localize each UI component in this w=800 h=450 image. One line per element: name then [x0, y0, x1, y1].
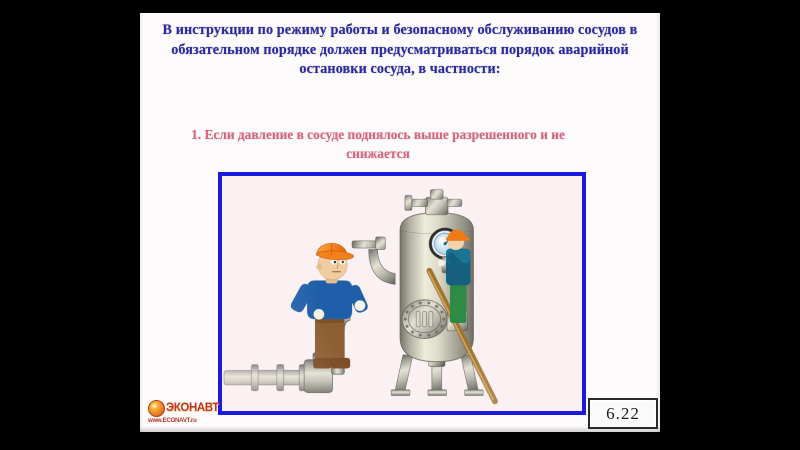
- logo-globe-icon: [148, 400, 165, 417]
- slide-number-badge: 6.22: [588, 398, 658, 429]
- slide-heading: В инструкции по режиму работы и безопасн…: [156, 21, 644, 80]
- presentation-slide: В инструкции по режиму работы и безопасн…: [140, 13, 660, 432]
- logo-wordmark: ЭКОНАВТ: [166, 402, 219, 414]
- slide-subheading: 1. Если давление в сосуде поднялось выше…: [168, 125, 588, 163]
- screen: В инструкции по режиму работы и безопасн…: [0, 0, 800, 450]
- slide-bottom-shading: [140, 426, 660, 432]
- logo-url: www.ECONAVT.ru: [148, 418, 228, 424]
- illustration-frame: [218, 172, 586, 415]
- pressure-vessel-illustration: [222, 176, 582, 411]
